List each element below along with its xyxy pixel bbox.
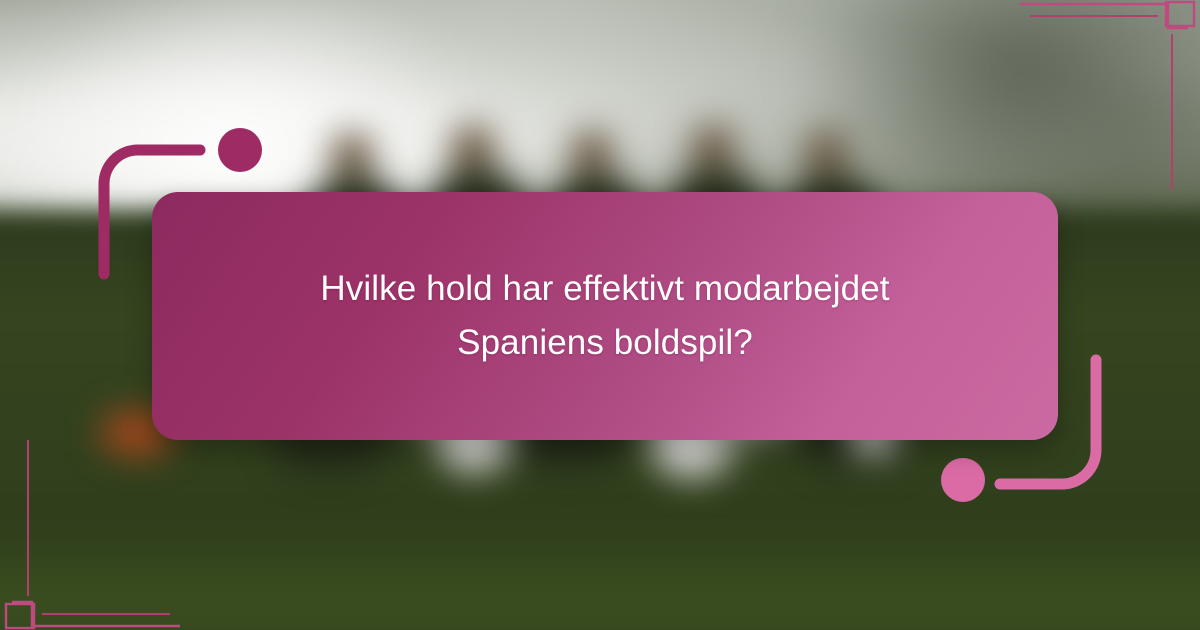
decoration-bottom-right-dot <box>941 458 985 502</box>
question-card: Hvilke hold har effektivt modarbejdet Sp… <box>152 192 1058 440</box>
background-grass-foreground <box>0 520 1200 630</box>
question-text: Hvilke hold har effektivt modarbejdet Sp… <box>260 262 950 371</box>
decoration-top-left-dot <box>218 128 262 172</box>
question-card-graphic: Hvilke hold har effektivt modarbejdet Sp… <box>0 0 1200 630</box>
